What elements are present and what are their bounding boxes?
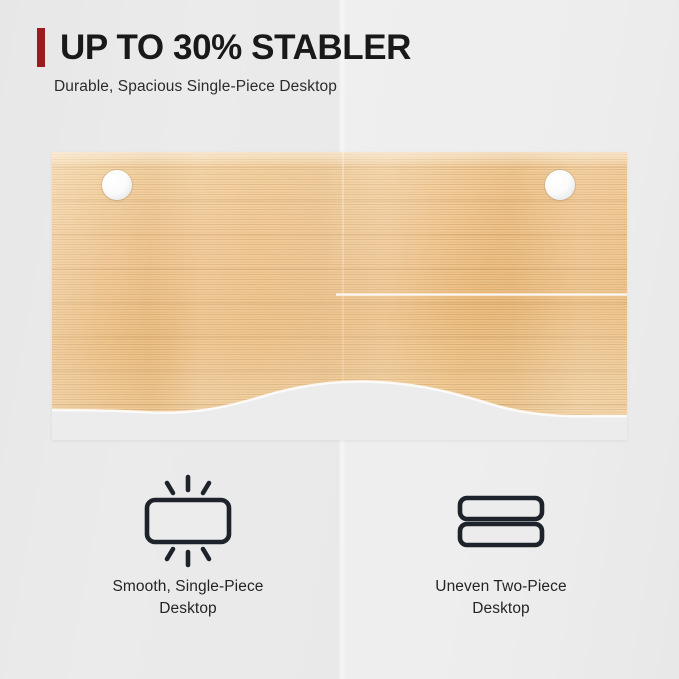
cable-grommet-hole-right	[545, 170, 575, 200]
desktop-panel-edge-horizontal	[336, 293, 627, 296]
smooth-single-piece-desktop-icon	[38, 466, 338, 576]
desktop-product-photo	[52, 152, 627, 440]
page-subtitle: Durable, Spacious Single-Piece Desktop	[54, 77, 337, 97]
comparison-item-two-piece: Uneven Two-Piece Desktop	[351, 466, 651, 620]
bamboo-wood-grain	[52, 152, 627, 440]
caption-line-2: Desktop	[38, 598, 338, 620]
desktop-panel-edge-vertical	[342, 152, 344, 440]
marketing-banner: UP TO 30% STABLER Durable, Spacious Sing…	[0, 0, 679, 679]
caption-line-2: Desktop	[351, 598, 651, 620]
comparison-item-single-piece: Smooth, Single-Piece Desktop	[38, 466, 338, 620]
page-title: UP TO 30% STABLER	[60, 28, 411, 67]
comparison-row: Smooth, Single-Piece Desktop Uneven Two-…	[0, 466, 679, 656]
comparison-caption-single-piece: Smooth, Single-Piece Desktop	[38, 576, 338, 620]
comparison-caption-two-piece: Uneven Two-Piece Desktop	[351, 576, 651, 620]
uneven-two-piece-desktop-icon	[351, 466, 651, 576]
caption-line-1: Smooth, Single-Piece	[38, 576, 338, 598]
caption-line-1: Uneven Two-Piece	[351, 576, 651, 598]
headline-row: UP TO 30% STABLER	[37, 28, 411, 67]
cable-grommet-hole-left	[102, 170, 132, 200]
accent-bar	[37, 28, 45, 67]
